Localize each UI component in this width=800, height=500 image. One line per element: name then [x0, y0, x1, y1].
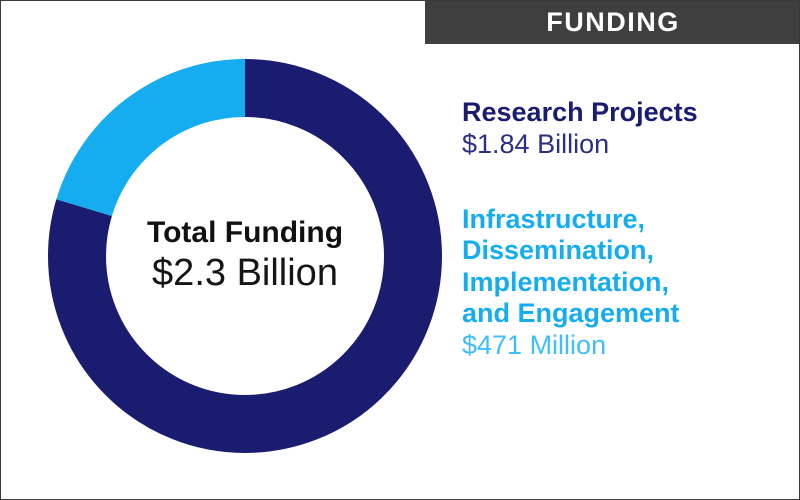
legend-item-amount: $471 Million — [462, 329, 792, 361]
funding-infographic: FUNDING Total Funding $2.3 Billion Resea… — [0, 0, 800, 500]
header-banner: FUNDING — [425, 1, 800, 44]
legend-item-label: Infrastructure, Dissemination, Implement… — [462, 204, 792, 328]
funding-donut-chart: Total Funding $2.3 Billion — [47, 58, 443, 454]
legend-item-label-line3: Implementation, — [462, 267, 669, 297]
donut-svg — [47, 58, 443, 454]
legend-item-label-line2: Dissemination, — [462, 235, 654, 265]
legend-item-label: Research Projects — [462, 97, 792, 128]
page-title: FUNDING — [546, 9, 680, 36]
legend-item-label-line4: and Engagement — [462, 298, 680, 328]
legend-item-infrastructure[interactable]: Infrastructure, Dissemination, Implement… — [462, 204, 792, 361]
legend-item-research-projects[interactable]: Research Projects $1.84 Billion — [462, 97, 792, 160]
legend-item-amount: $1.84 Billion — [462, 128, 792, 160]
legend-item-label-line1: Infrastructure, — [462, 204, 645, 234]
legend: Research Projects $1.84 Billion Infrastr… — [462, 97, 792, 361]
